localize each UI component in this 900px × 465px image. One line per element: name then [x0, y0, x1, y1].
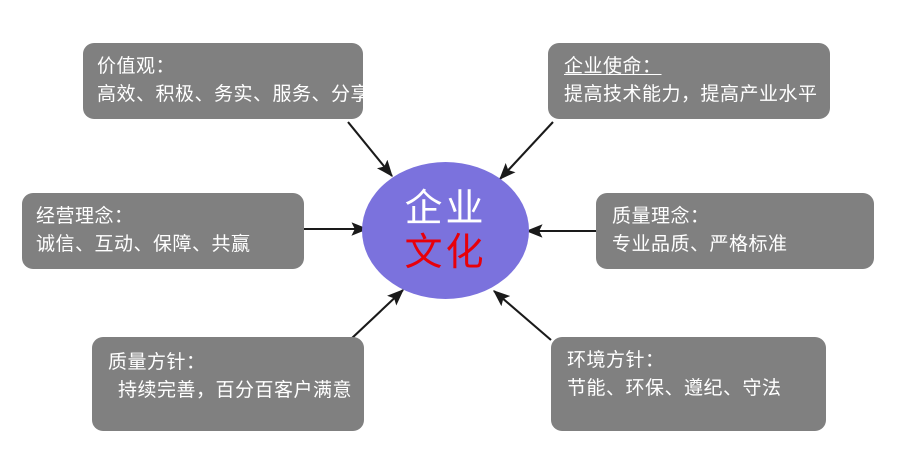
node-title-quality-idea: 质量理念： — [612, 203, 874, 231]
node-box-management[interactable]: 经营理念： 诚信、互动、保障、共赢 — [22, 193, 304, 269]
node-body-environment: 节能、环保、遵纪、守法 — [567, 375, 826, 403]
node-title-values: 价值观： — [97, 53, 363, 81]
node-box-environment[interactable]: 环境方针： 节能、环保、遵纪、守法 — [551, 337, 826, 431]
node-body-mission: 提高技术能力，提高产业水平 — [564, 81, 830, 109]
connector-mission-to-center — [500, 122, 553, 179]
node-body-quality-policy: 持续完善，百分百客户满意 — [108, 377, 364, 405]
connector-quality-policy-to-center — [351, 290, 403, 339]
node-title-management: 经营理念： — [36, 203, 304, 231]
node-title-mission: 企业使命： — [564, 53, 830, 81]
center-node-corporate-culture[interactable]: 企业 文化 — [362, 162, 529, 299]
node-box-values[interactable]: 价值观： 高效、积极、务实、服务、分享 — [83, 43, 363, 119]
node-box-mission[interactable]: 企业使命： 提高技术能力，提高产业水平 — [548, 43, 830, 119]
node-box-quality-idea[interactable]: 质量理念： 专业品质、严格标准 — [596, 193, 874, 269]
node-box-quality-policy[interactable]: 质量方针： 持续完善，百分百客户满意 — [92, 337, 364, 431]
connector-values-to-center — [348, 122, 392, 176]
connector-environment-to-center — [494, 291, 551, 340]
node-body-quality-idea: 专业品质、严格标准 — [612, 231, 874, 259]
node-title-environment: 环境方针： — [567, 347, 826, 375]
center-node-line-1: 企业 — [404, 189, 486, 229]
diagram-canvas: 价值观： 高效、积极、务实、服务、分享 企业使命： 提高技术能力，提高产业水平 … — [0, 0, 900, 465]
node-body-management: 诚信、互动、保障、共赢 — [36, 231, 304, 259]
node-body-values: 高效、积极、务实、服务、分享 — [97, 81, 363, 109]
node-title-quality-policy: 质量方针： — [108, 349, 364, 377]
center-node-line-2: 文化 — [404, 233, 486, 273]
